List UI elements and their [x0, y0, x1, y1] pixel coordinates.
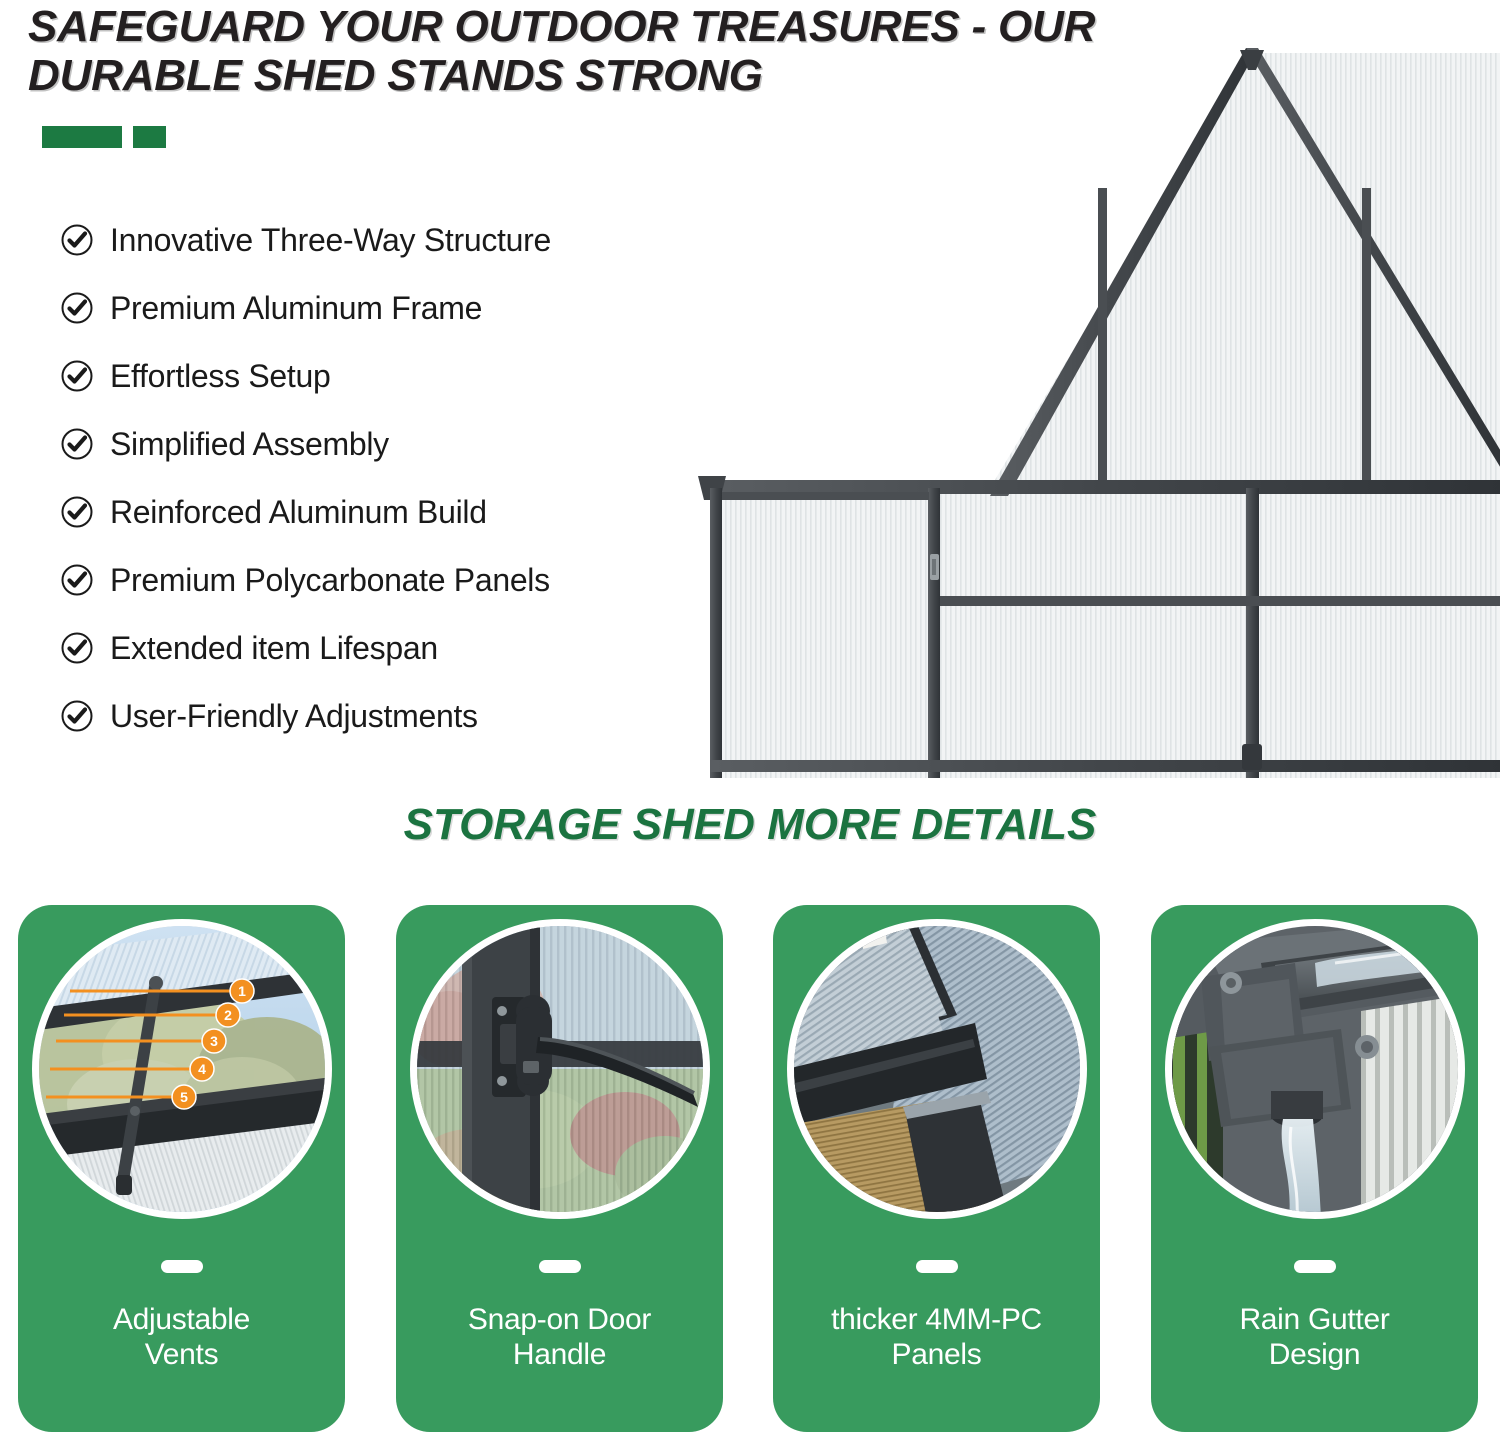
feature-label: User-Friendly Adjustments — [110, 698, 478, 735]
svg-text:2: 2 — [224, 1007, 232, 1023]
card-caption: Adjustable Vents — [32, 1302, 332, 1372]
accent-bar-wide — [42, 126, 122, 148]
feature-label: Extended item Lifespan — [110, 630, 438, 667]
check-circle-icon — [60, 631, 94, 665]
list-item: Reinforced Aluminum Build — [60, 478, 760, 546]
detail-cards: 1 2 3 4 5 Adjustable Vent — [0, 905, 1500, 1435]
card-caption-line2: Vents — [145, 1338, 219, 1371]
list-item: Innovative Three-Way Structure — [60, 206, 760, 274]
check-circle-icon — [60, 291, 94, 325]
detail-card-rain-gutter[interactable]: Rain Gutter Design — [1151, 905, 1478, 1432]
accent-bar-small — [133, 126, 166, 148]
card-caption: thicker 4MM-PC Panels — [787, 1302, 1087, 1372]
list-item: Effortless Setup — [60, 342, 760, 410]
svg-text:3: 3 — [210, 1033, 218, 1049]
feature-label: Innovative Three-Way Structure — [110, 222, 551, 259]
check-circle-icon — [60, 563, 94, 597]
card-caption-line2: Handle — [513, 1338, 606, 1371]
detail-card-door-handle[interactable]: Snap-on Door Handle — [396, 905, 723, 1432]
card-caption-line1: Snap-on Door — [468, 1303, 651, 1336]
check-circle-icon — [60, 495, 94, 529]
hero-section: SAFEGUARD YOUR OUTDOOR TREASURES - OUR D… — [0, 0, 1500, 790]
section-heading: STORAGE SHED MORE DETAILS — [0, 800, 1500, 850]
shed-illustration — [690, 18, 1500, 778]
list-item: User-Friendly Adjustments — [60, 682, 760, 750]
feature-label: Simplified Assembly — [110, 426, 389, 463]
feature-list: Innovative Three-Way Structure Premium A… — [60, 206, 760, 750]
card-caption-line1: Rain Gutter — [1239, 1303, 1389, 1336]
feature-label: Reinforced Aluminum Build — [110, 494, 487, 531]
card-caption: Rain Gutter Design — [1165, 1302, 1465, 1372]
check-circle-icon — [60, 223, 94, 257]
svg-text:4: 4 — [198, 1061, 206, 1077]
feature-label: Premium Polycarbonate Panels — [110, 562, 550, 599]
card-caption-line2: Panels — [892, 1338, 982, 1371]
card-divider-dash — [539, 1260, 581, 1273]
detail-card-pc-panels[interactable]: thicker 4MM-PC Panels — [773, 905, 1100, 1432]
check-circle-icon — [60, 359, 94, 393]
card-divider-dash — [1294, 1260, 1336, 1273]
vent-window-photo: 1 2 3 4 5 — [32, 919, 332, 1219]
card-caption: Snap-on Door Handle — [410, 1302, 710, 1372]
list-item: Premium Aluminum Frame — [60, 274, 760, 342]
card-caption-line2: Design — [1269, 1338, 1361, 1371]
list-item: Premium Polycarbonate Panels — [60, 546, 760, 614]
feature-label: Effortless Setup — [110, 358, 331, 395]
card-divider-dash — [161, 1260, 203, 1273]
check-circle-icon — [60, 699, 94, 733]
feature-label: Premium Aluminum Frame — [110, 290, 482, 327]
card-caption-line1: Adjustable — [113, 1303, 250, 1336]
svg-text:5: 5 — [180, 1089, 188, 1105]
detail-card-adjustable-vents[interactable]: 1 2 3 4 5 Adjustable Vent — [18, 905, 345, 1432]
accent-bars — [42, 126, 166, 148]
list-item: Simplified Assembly — [60, 410, 760, 478]
polycarbonate-panels-photo — [787, 919, 1087, 1219]
door-handle-photo — [410, 919, 710, 1219]
svg-text:1: 1 — [238, 983, 246, 999]
check-circle-icon — [60, 427, 94, 461]
card-caption-line1: thicker 4MM-PC — [831, 1303, 1042, 1336]
rain-gutter-photo — [1165, 919, 1465, 1219]
list-item: Extended item Lifespan — [60, 614, 760, 682]
card-divider-dash — [916, 1260, 958, 1273]
